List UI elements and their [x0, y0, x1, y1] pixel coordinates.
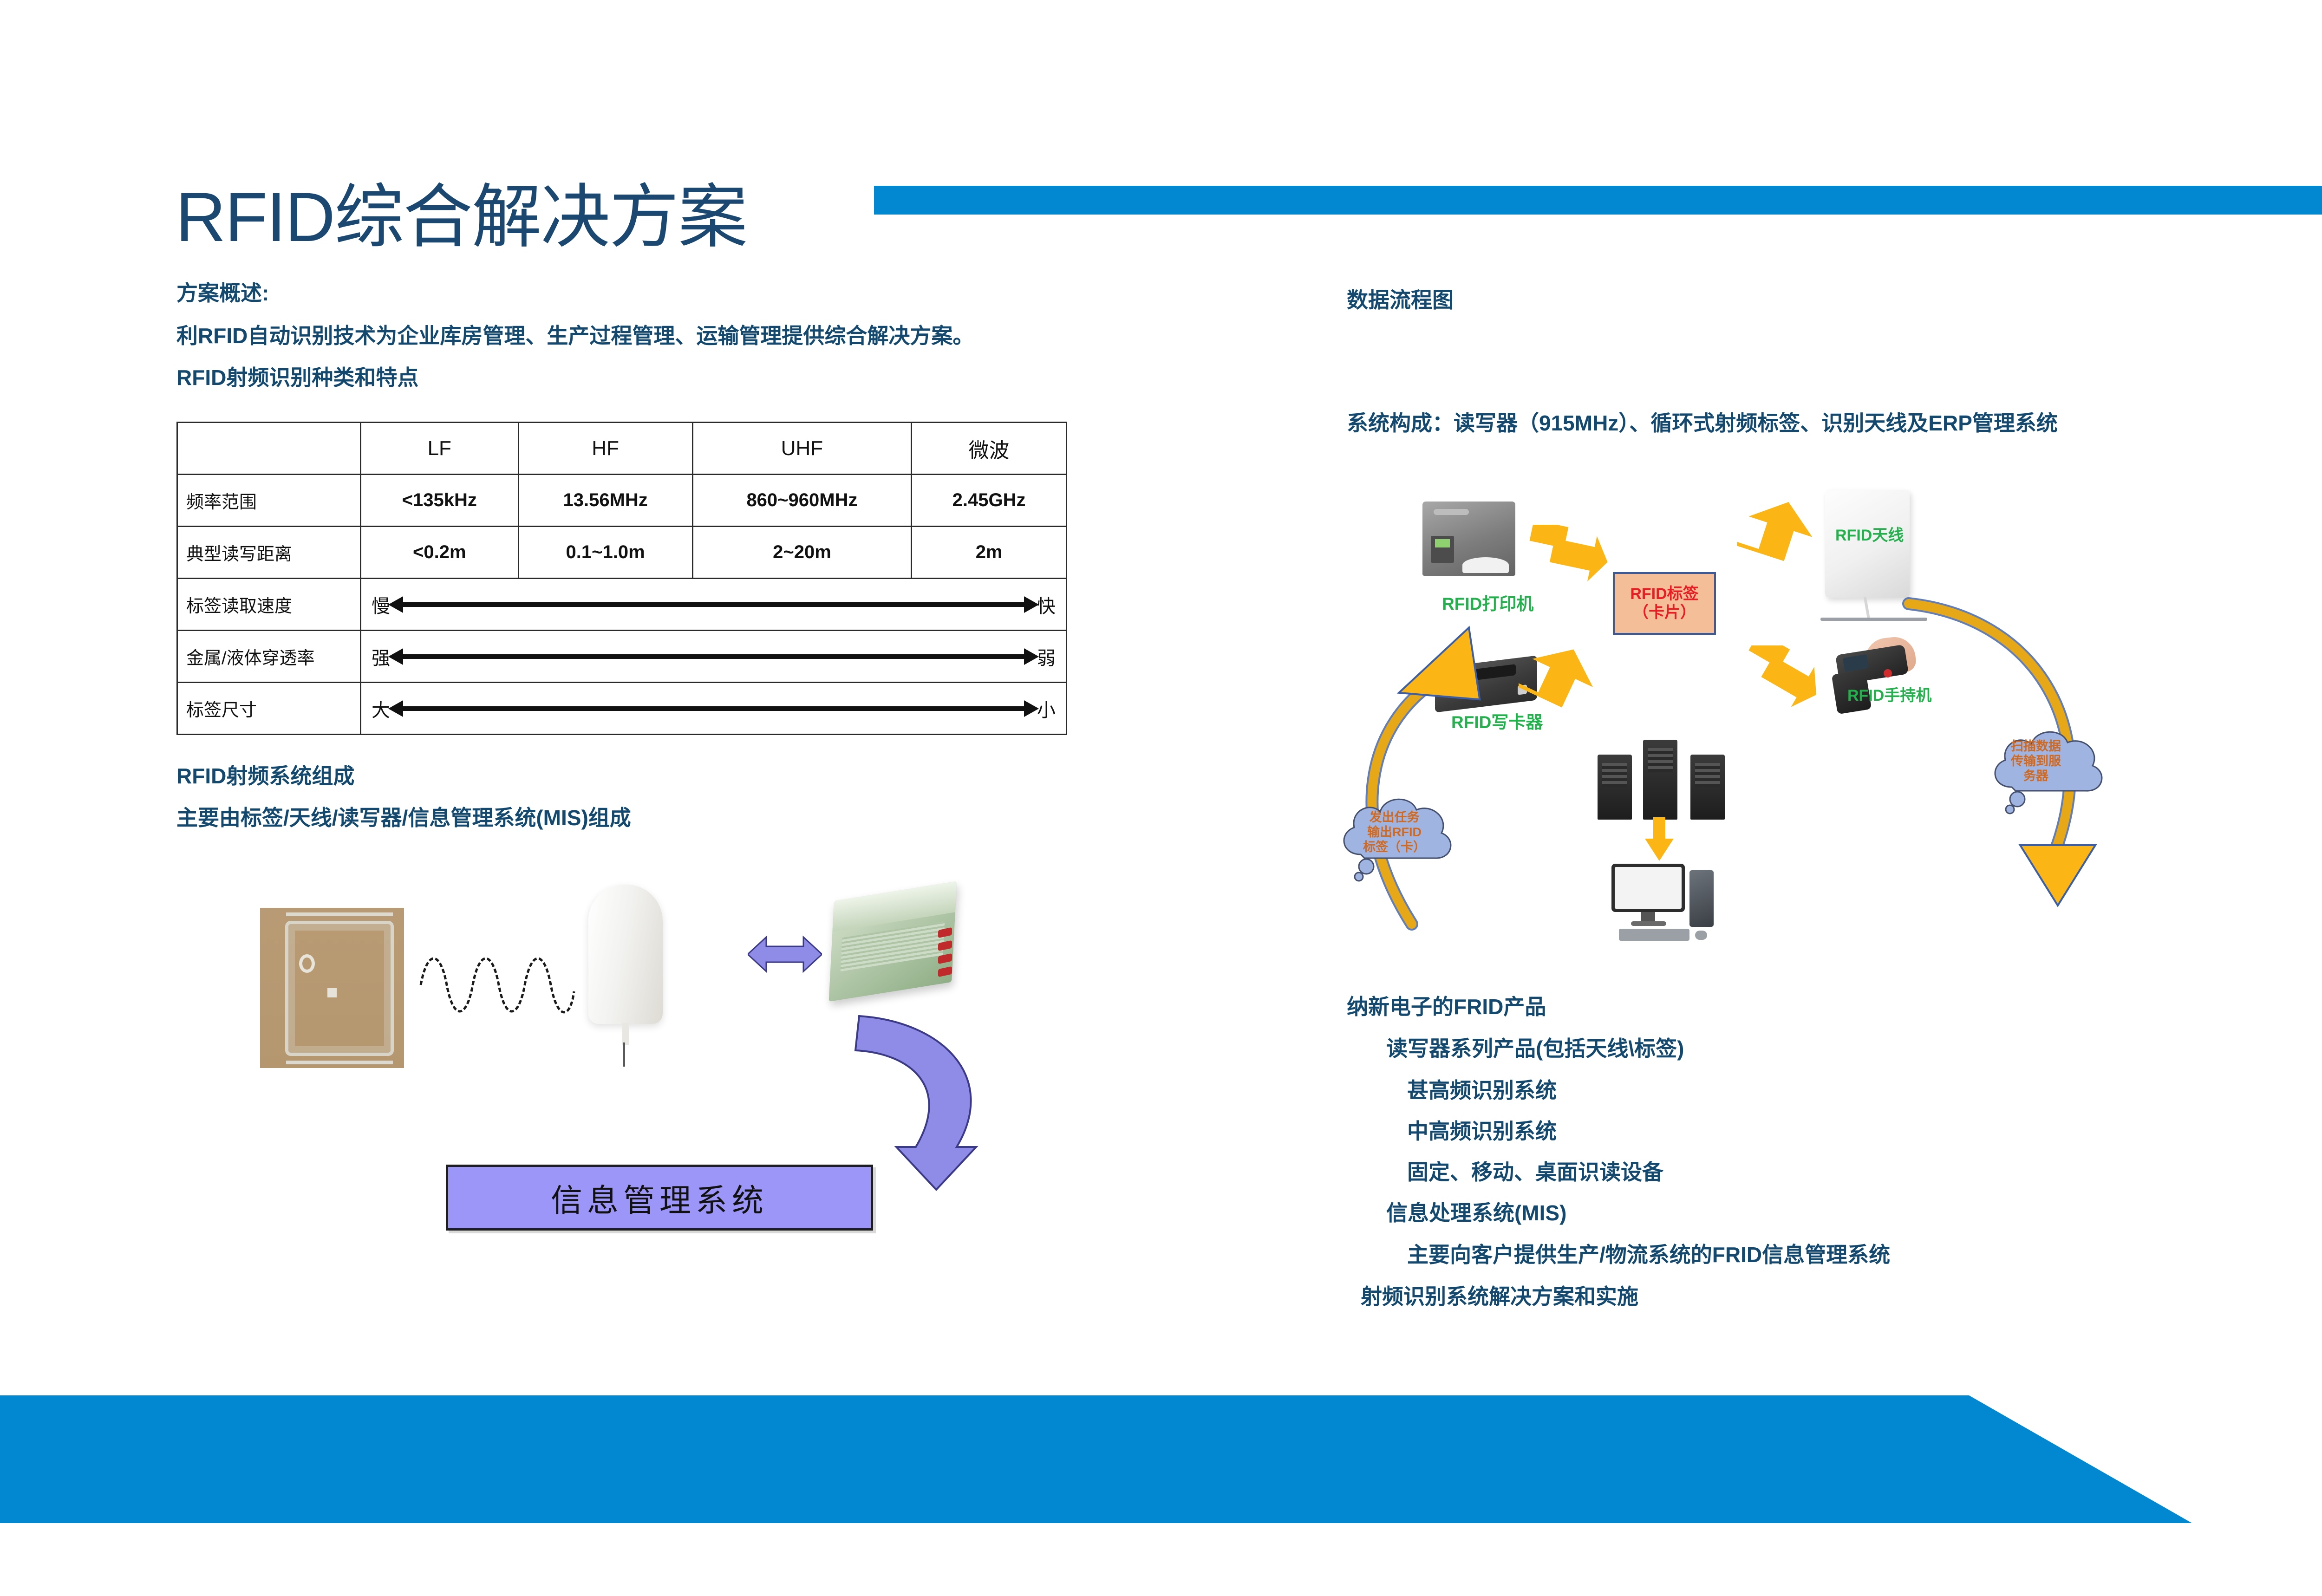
cell-frequency-uhf: 860~960MHz [692, 475, 911, 527]
cell-distance-lf: <0.2m [361, 527, 519, 579]
mis-box: 信息管理系统 [446, 1165, 873, 1231]
cloud-left-label: 发出任务 输出RFID 标签（卡） [1363, 810, 1426, 855]
penetration-right-label: 弱 [1037, 643, 1056, 670]
rfid-tag-photo [260, 908, 404, 1068]
table-col-microwave: 微波 [912, 423, 1067, 475]
row-label-read-speed: 标签读取速度 [177, 579, 361, 631]
printer-control-panel-icon [1431, 536, 1454, 563]
overview-heading: 方案概述: [176, 282, 269, 304]
footer-accent-band [0, 1395, 2192, 1523]
system-heading: RFID射频系统组成 [176, 765, 354, 787]
cell-read-speed-gradient: 慢 快 [361, 579, 1067, 631]
table-col-hf: HF [518, 423, 692, 475]
cloud-left-line2: 输出RFID [1363, 825, 1426, 840]
cloud-right-line1: 扫描数据 [2011, 739, 2061, 754]
product-list-item-5: 信息处理系统(MIS) [1386, 1196, 1566, 1227]
cell-distance-uhf: 2~20m [692, 527, 911, 579]
table-row: 频率范围 <135kHz 13.56MHz 860~960MHz 2.45GHz [177, 475, 1067, 527]
read-speed-left-label: 慢 [372, 591, 390, 618]
cloud-left-line3: 标签（卡） [1363, 840, 1426, 855]
arrow-server-to-desktop-icon [1644, 817, 1675, 862]
flow-diagram-heading: 数据流程图 [1347, 283, 1454, 314]
cell-frequency-microwave: 2.45GHz [912, 475, 1067, 527]
cell-frequency-lf: <135kHz [361, 475, 519, 527]
read-speed-right-label: 快 [1037, 591, 1056, 618]
printer-label: RFID打印机 [1442, 590, 1533, 615]
reader-antenna-ports-icon [938, 929, 952, 981]
cloud-right-line3: 务器 [2011, 769, 2061, 784]
table-col-uhf: UHF [692, 423, 911, 475]
table-corner-cell [177, 423, 361, 475]
table-row: 标签尺寸 大 小 [177, 683, 1067, 735]
antenna-label: RFID天线 [1835, 522, 1904, 545]
arrow-printer-to-tag-icon [1523, 525, 1611, 585]
row-label-frequency: 频率范围 [177, 475, 361, 527]
header-accent-bar [874, 186, 2322, 215]
tag-logo-icon [299, 954, 315, 973]
printer-paper-icon [1462, 557, 1509, 573]
cloud-right-line2: 传输到服 [2011, 754, 2061, 769]
product-list-item-6: 主要向客户提供生产/物流系统的FRID信息管理系统 [1407, 1238, 1890, 1269]
double-arrow-icon [402, 602, 1025, 607]
product-list-item-2: 甚高频识别系统 [1407, 1074, 1557, 1104]
tag-inlay-icon [285, 921, 394, 1056]
page-title: RFID综合解决方案 [176, 182, 747, 252]
cloud-right-label: 扫描数据 传输到服 务器 [2011, 739, 2061, 784]
overview-body: 利RFID自动识别技术为企业库房管理、生产过程管理、运输管理提供综合解决方案。 [176, 325, 974, 346]
row-label-tag-size: 标签尺寸 [177, 683, 361, 735]
product-list-item-0: 纳新电子的FRID产品 [1347, 990, 1546, 1021]
row-label-penetration: 金属/液体穿透率 [177, 631, 361, 683]
mouse-icon [1695, 931, 1707, 940]
tag-stripe-top [286, 912, 393, 916]
rfid-spec-table: LF HF UHF 微波 频率范围 <135kHz 13.56MHz 860~9… [176, 422, 1067, 735]
tag-size-left-label: 大 [372, 695, 390, 722]
keyboard-icon [1619, 929, 1689, 941]
types-heading: RFID射频识别种类和特点 [176, 367, 418, 388]
printer-lid-icon [1434, 509, 1469, 515]
system-composition-text: 系统构成：读写器（915MHz）、循环式射频标签、识别天线及ERP管理系统 [1347, 406, 2058, 437]
cell-penetration-gradient: 强 弱 [361, 631, 1067, 683]
purple-double-arrow-icon [748, 934, 822, 974]
tag-card-line1: RFID标签 [1630, 585, 1698, 603]
product-list-item-4: 固定、移动、桌面识读设备 [1407, 1155, 1663, 1186]
table-row: 典型读写距离 <0.2m 0.1~1.0m 2~20m 2m [177, 527, 1067, 579]
cell-tag-size-gradient: 大 小 [361, 683, 1067, 735]
reader-vents-icon [841, 921, 945, 971]
double-arrow-icon [402, 706, 1025, 711]
double-arrow-icon [402, 654, 1025, 659]
table-col-lf: LF [361, 423, 519, 475]
table-header-row: LF HF UHF 微波 [177, 423, 1067, 475]
cell-frequency-hf: 13.56MHz [518, 475, 692, 527]
tag-stripe-bottom [286, 1061, 393, 1064]
cell-distance-microwave: 2m [912, 527, 1067, 579]
cell-distance-hf: 0.1~1.0m [518, 527, 692, 579]
radio-wave-icon [418, 940, 576, 1029]
rfid-antenna-photo [588, 885, 663, 1024]
tag-card-line2: （卡片） [1633, 604, 1696, 622]
desktop-computer-photo [1611, 864, 1728, 943]
rfid-printer-photo [1422, 502, 1515, 576]
penetration-left-label: 强 [372, 643, 390, 670]
arrow-tag-to-handheld-icon [1737, 645, 1825, 708]
antenna-cable-icon [623, 1042, 625, 1067]
product-list-item-1: 读写器系列产品(包括天线\标签) [1386, 1032, 1684, 1062]
product-list-item-7: 射频识别系统解决方案和实施 [1361, 1280, 1638, 1310]
row-label-distance: 典型读写距离 [177, 527, 361, 579]
tag-chip-icon [327, 988, 337, 997]
pc-tower-icon [1689, 870, 1714, 927]
monitor-stand-icon [1641, 912, 1655, 922]
table-row: 标签读取速度 慢 快 [177, 579, 1067, 631]
monitor-base-icon [1631, 921, 1666, 926]
slide-canvas: RFID综合解决方案 方案概述: 利RFID自动识别技术为企业库房管理、生产过程… [0, 0, 2322, 1596]
arrow-tag-to-antenna-icon [1737, 499, 1825, 562]
product-list-item-3: 中高频识别系统 [1407, 1114, 1557, 1145]
rfid-tag-card-box: RFID标签 （卡片） [1613, 572, 1716, 635]
table-row: 金属/液体穿透率 强 弱 [177, 631, 1067, 683]
cloud-left-line1: 发出任务 [1363, 810, 1426, 825]
tag-size-right-label: 小 [1037, 695, 1056, 722]
system-body: 主要由标签/天线/读写器/信息管理系统(MIS)组成 [176, 807, 631, 828]
